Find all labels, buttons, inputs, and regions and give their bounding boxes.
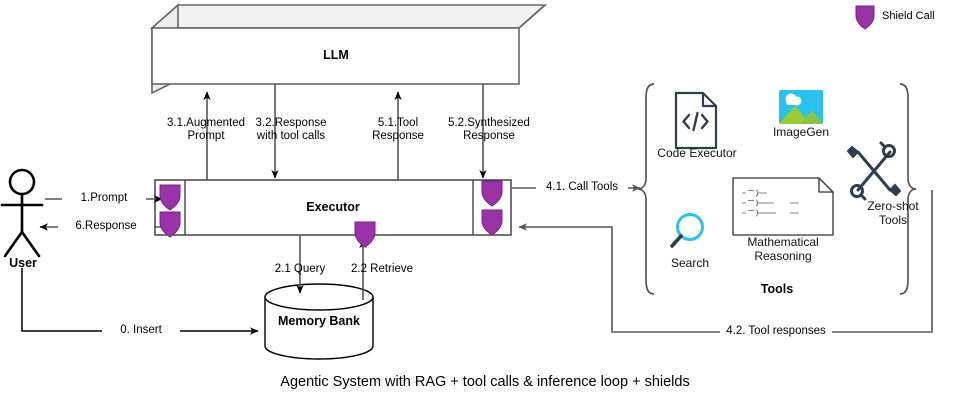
shield-icon [355, 222, 375, 247]
diagram-svg [0, 0, 970, 411]
legend-shield-icon [856, 6, 874, 29]
tool-label-mathematical-reasoning: Mathematical Reasoning [728, 235, 838, 263]
executor-label: Executor [268, 200, 398, 214]
tool-label-imagegen: ImageGen [766, 125, 836, 139]
llm-label: LLM [272, 48, 400, 62]
magnifier-icon [672, 215, 703, 247]
edge-label-call-tools: 4.1. Call Tools [536, 181, 628, 194]
edge-label-response: 6.Response [58, 220, 154, 233]
edge-label-synthesized-response: 5.2.Synthesized Response [427, 117, 551, 143]
tools-brace-left [638, 84, 654, 294]
tool-label-code-executor: Code Executor [652, 146, 742, 160]
edge-label-retrieve: 2.2 Retrieve [334, 263, 430, 276]
memory-bank-label: Memory Bank [254, 314, 384, 328]
user-actor [2, 170, 42, 256]
user-label: User [0, 256, 56, 270]
diagram-caption: Agentic System with RAG + tool calls & i… [0, 374, 970, 390]
tools-brace-right [900, 84, 916, 294]
tool-label-search: Search [655, 256, 725, 270]
diagram-canvas: LLM Executor Memory Bank User Tools 3.1.… [0, 0, 970, 411]
edge-label-response-with-tool-calls: 3.2.Response with tool calls [232, 117, 350, 143]
code-document-icon [676, 93, 716, 148]
tool-label-zero-shot-tools: Zero-shot Tools [838, 199, 948, 227]
image-picture-icon [779, 90, 823, 124]
legend-shield-label: Shield Call [882, 10, 935, 22]
tools-group-label: Tools [717, 282, 837, 296]
edge-label-tool-responses: 4.2. Tool responses [720, 325, 832, 338]
crossed-wrenches-icon [848, 143, 900, 199]
edge-label-prompt: 1.Prompt [62, 192, 146, 205]
edge-label-insert: 0. Insert [102, 324, 180, 337]
edge-insert [22, 268, 258, 331]
math-document-icon [733, 178, 833, 235]
edge-label-query: 2.1 Query [258, 263, 342, 276]
